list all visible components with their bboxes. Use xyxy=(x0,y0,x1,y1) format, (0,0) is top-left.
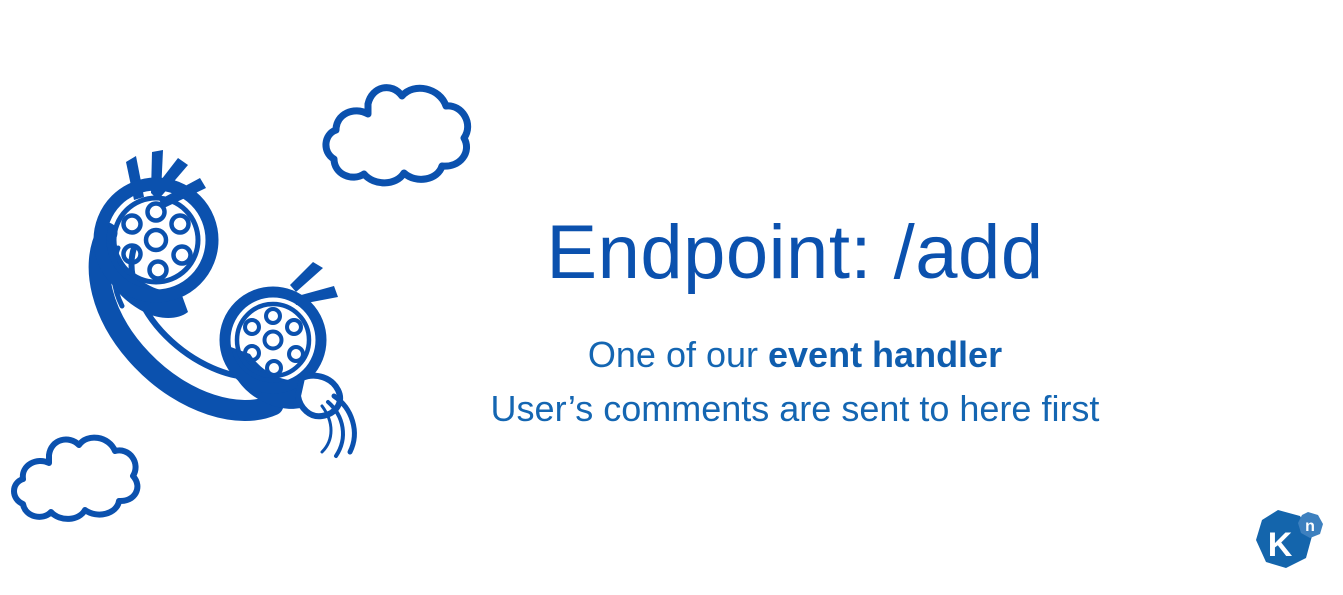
svg-text:K: K xyxy=(1268,526,1293,564)
cloud-icon-top xyxy=(312,66,492,191)
cloud-icon-bottom xyxy=(5,425,155,525)
slide-canvas: Endpoint: /add One of our event handler … xyxy=(0,0,1343,595)
page-title: Endpoint: /add xyxy=(410,215,1180,291)
subtitle-line-2: User’s comments are sent to here first xyxy=(410,383,1180,435)
subtitle-prefix: One of our xyxy=(588,334,768,375)
slide-text-block: Endpoint: /add One of our event handler … xyxy=(410,215,1180,435)
subtitle-line-1: One of our event handler xyxy=(410,329,1180,381)
telephone-handset-icon xyxy=(60,140,380,470)
subtitle-emphasis: event handler xyxy=(768,334,1002,375)
brand-logo: K n xyxy=(1248,506,1326,578)
svg-text:n: n xyxy=(1305,518,1315,535)
